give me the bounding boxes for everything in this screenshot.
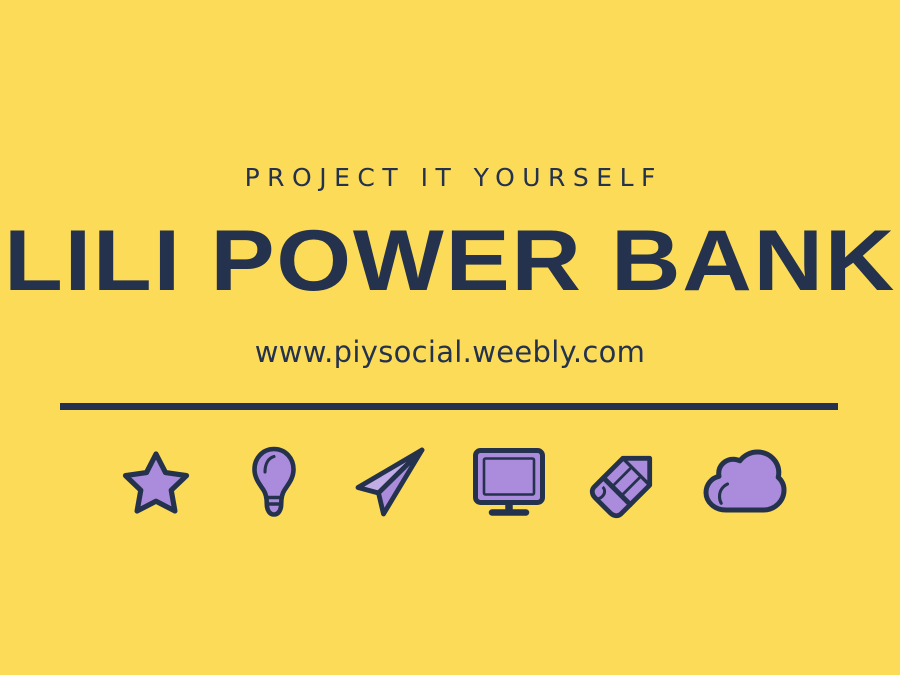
paper-plane-icon: [353, 446, 429, 518]
pencil-icon: [589, 445, 663, 519]
cloud-icon: [702, 448, 786, 516]
horizontal-divider: [60, 403, 838, 410]
icon-cell-pencil: [580, 440, 672, 524]
lightbulb-icon: [250, 445, 298, 519]
monitor-icon: [472, 447, 546, 517]
icon-cell-lightbulb: [228, 440, 320, 524]
icon-cell-paper-plane: [345, 440, 437, 524]
poster-canvas: PROJECT IT YOURSELF LILI POWER BANK www.…: [0, 0, 900, 675]
icon-row: [110, 440, 790, 524]
star-icon: [121, 447, 191, 517]
icon-cell-star: [110, 440, 202, 524]
icon-cell-monitor: [463, 440, 555, 524]
icon-cell-cloud: [698, 440, 790, 524]
poster-title: LILI POWER BANK: [0, 215, 900, 307]
poster-subtitle: PROJECT IT YOURSELF: [0, 163, 900, 193]
poster-url: www.piysocial.weebly.com: [0, 334, 900, 370]
